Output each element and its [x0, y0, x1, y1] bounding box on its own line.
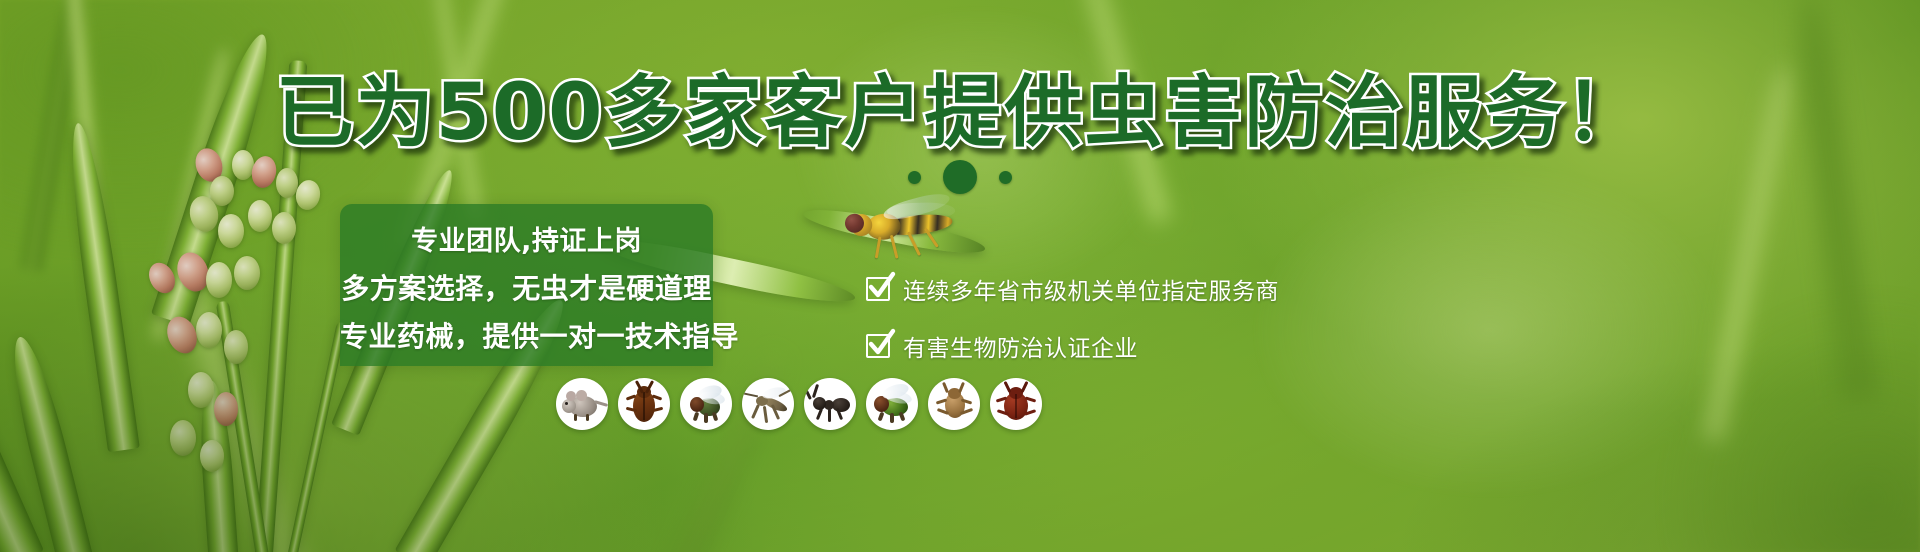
decorative-dots	[0, 160, 1920, 194]
checkbox-checked-icon	[866, 277, 890, 301]
feature-line-2: 多方案选择，无虫才是硬道理	[340, 275, 713, 303]
feature-panel-text: 专业团队,持证上岗 多方案选择，无虫才是硬道理 专业药械，提供一对一技术指导	[340, 204, 713, 366]
blowfly-icon[interactable]	[866, 378, 918, 430]
dot-small-icon	[999, 171, 1012, 184]
dot-small-icon	[908, 171, 921, 184]
feature-line-1: 专业团队,持证上岗	[340, 228, 713, 255]
checkbox-checked-icon	[866, 334, 890, 358]
pest-icon-row	[556, 378, 1042, 430]
dot-large-icon	[943, 160, 977, 194]
credentials-list: 连续多年省市级机关单位指定服务商 有害生物防治认证企业	[866, 272, 1279, 363]
cockroach-icon[interactable]	[618, 378, 670, 430]
list-item-label: 有害生物防治认证企业	[903, 329, 1138, 363]
flea-icon[interactable]	[928, 378, 980, 430]
list-item: 有害生物防治认证企业	[866, 329, 1279, 363]
promo-banner: 已为500多家客户提供虫害防治服务！ 已为500多家客户提供虫害防治服务！ 专业…	[0, 0, 1920, 552]
list-item-label: 连续多年省市级机关单位指定服务商	[903, 272, 1279, 306]
ant-icon[interactable]	[804, 378, 856, 430]
page-title: 已为500多家客户提供虫害防治服务！	[0, 74, 1920, 152]
list-item: 连续多年省市级机关单位指定服务商	[866, 272, 1279, 306]
mosquito-icon[interactable]	[742, 378, 794, 430]
bedbug-icon[interactable]	[990, 378, 1042, 430]
fly-icon[interactable]	[680, 378, 732, 430]
feature-line-3: 专业药械，提供一对一技术指导	[340, 323, 713, 351]
mouse-icon[interactable]	[556, 378, 608, 430]
